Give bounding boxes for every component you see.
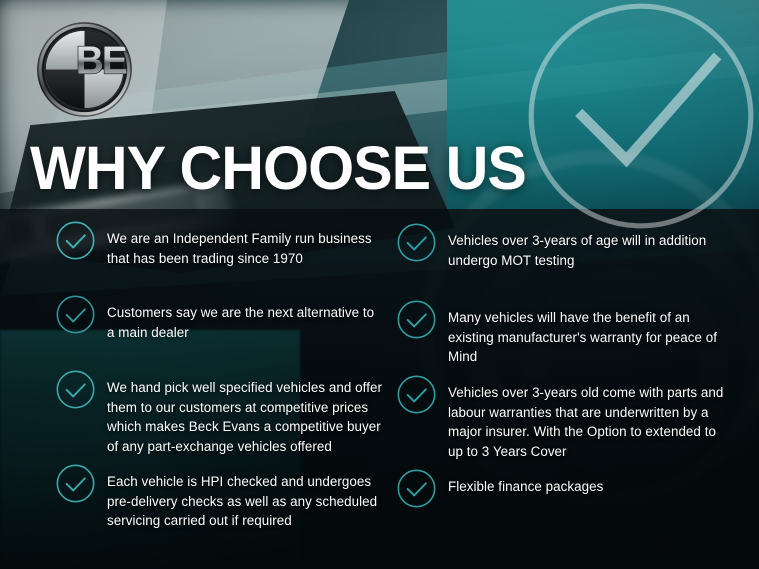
- feature-text: Customers say we are the next alternativ…: [107, 297, 385, 342]
- features-container: We are an Independent Family run busines…: [0, 209, 759, 569]
- check-circle-icon: [396, 468, 437, 509]
- check-circle-icon: [396, 374, 437, 415]
- feature-text: Many vehicles will have the benefit of a…: [448, 302, 726, 367]
- check-circle-icon: [55, 369, 96, 410]
- check-circle-icon: [396, 299, 437, 340]
- feature-text: Vehicles over 3-years of age will in add…: [448, 225, 726, 270]
- feature-text: Vehicles over 3-years old come with part…: [448, 377, 726, 461]
- check-circle-icon: [55, 463, 96, 504]
- features-right-column: Vehicles over 3-years of age will in add…: [396, 209, 756, 569]
- feature-text: Each vehicle is HPI checked and undergoe…: [107, 466, 385, 531]
- logo-text: BE: [76, 39, 127, 82]
- feature-text: Flexible finance packages: [448, 471, 603, 497]
- check-circle-icon: [55, 220, 96, 261]
- feature-item: Many vehicles will have the benefit of a…: [396, 302, 726, 367]
- feature-item: We are an Independent Family run busines…: [55, 223, 385, 268]
- feature-item: Vehicles over 3-years old come with part…: [396, 377, 726, 461]
- page-title: WHY CHOOSE US: [30, 136, 526, 200]
- feature-item: Vehicles over 3-years of age will in add…: [396, 225, 726, 270]
- features-left-column: We are an Independent Family run busines…: [55, 209, 415, 569]
- feature-text: We hand pick well specified vehicles and…: [107, 372, 385, 456]
- check-circle-icon: [55, 294, 96, 335]
- feature-item: Each vehicle is HPI checked and undergoe…: [55, 466, 385, 531]
- beck-evans-logo[interactable]: BE: [36, 21, 133, 118]
- feature-item: We hand pick well specified vehicles and…: [55, 372, 385, 456]
- why-choose-us-poster: BE WHY CHOOSE US We are an Independent F…: [0, 0, 759, 569]
- feature-text: We are an Independent Family run busines…: [107, 223, 385, 268]
- feature-item: Flexible finance packages: [396, 471, 726, 509]
- feature-item: Customers say we are the next alternativ…: [55, 297, 385, 342]
- check-circle-icon: [396, 222, 437, 263]
